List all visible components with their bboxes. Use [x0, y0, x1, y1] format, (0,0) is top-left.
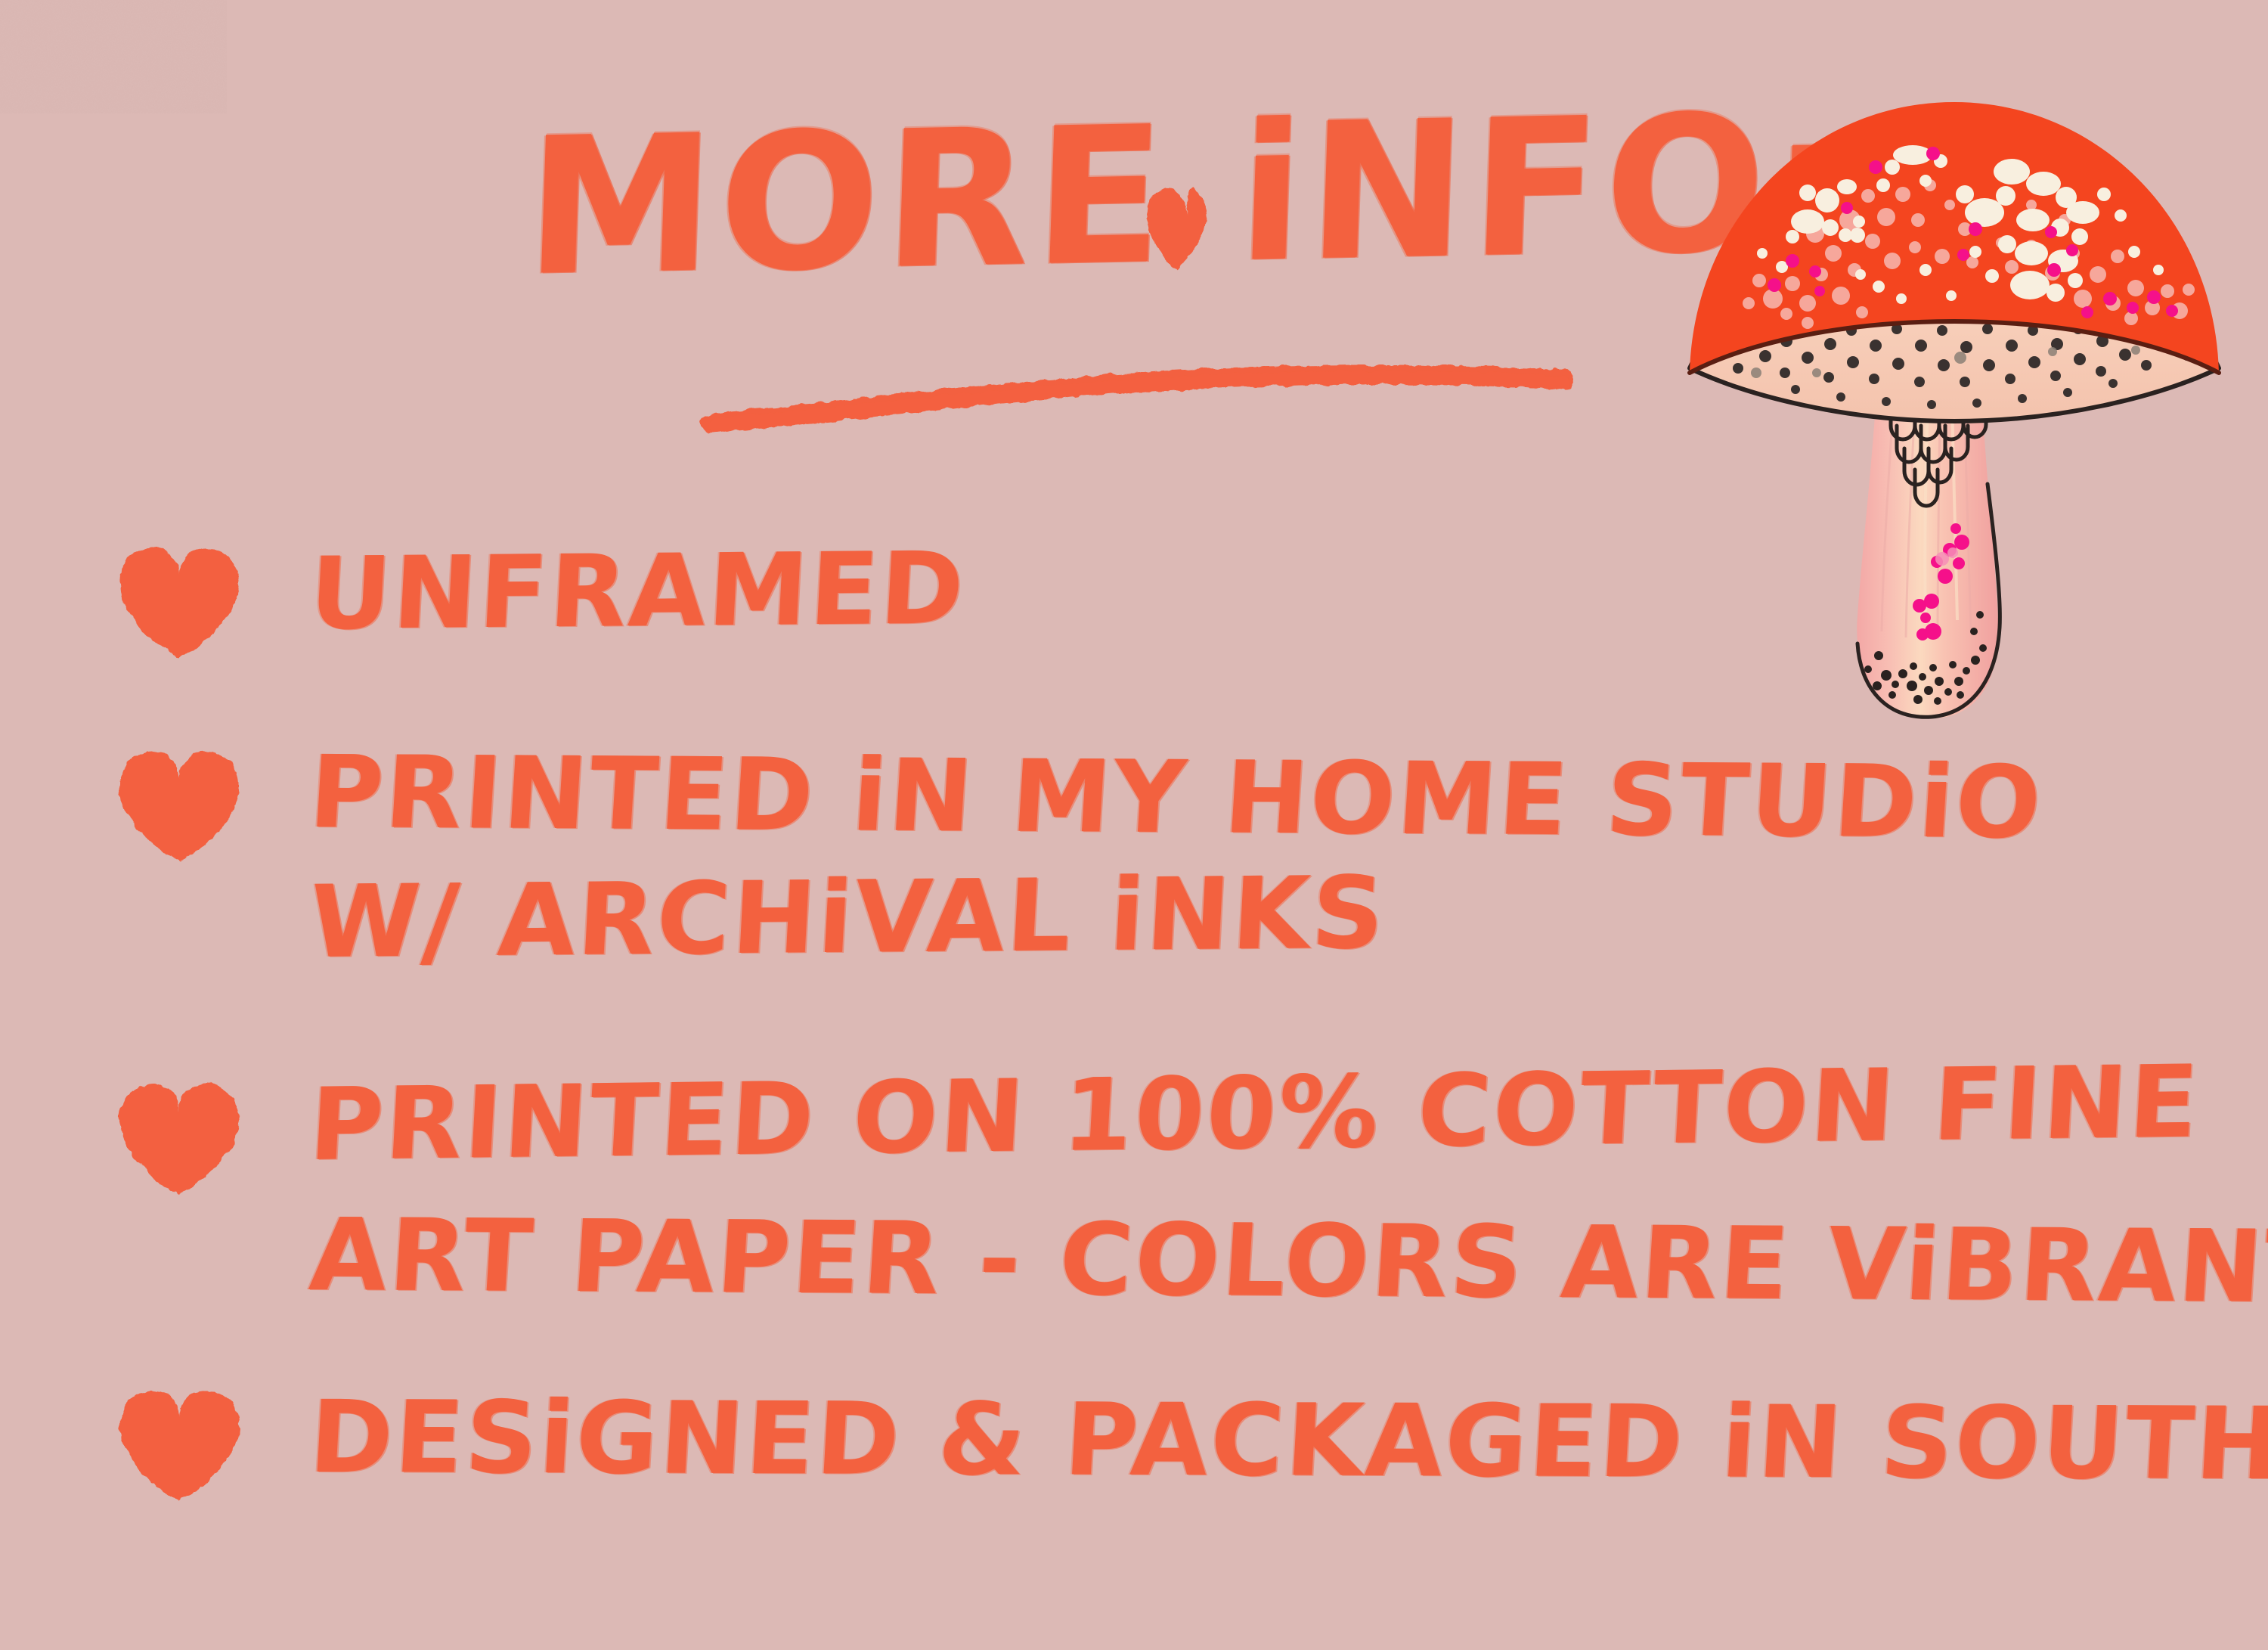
list-line: PRINTED ON 100% COTTON FINE	[307, 1052, 2249, 1175]
list-item-text: PRINTED iN MY HOME STUDiO W/ ARCHiVAL iN…	[310, 743, 2245, 972]
list-line: W/ ARCHiVAL iNKS	[308, 856, 2249, 972]
page-title-block: MORE iNFO:	[529, 113, 1663, 461]
more-info-card: MORE iNFO: UNFRAMED	[0, 0, 2268, 1650]
title-underline-stroke	[711, 374, 1565, 425]
heart-bullet-icon	[113, 744, 246, 865]
list-line: DESiGNED & PACKAGED iN SOUTH DAKOTA	[307, 1388, 2248, 1494]
page-title: MORE iNFO:	[523, 91, 1665, 302]
list-item-text: PRINTED ON 100% COTTON FINE ART PAPER - …	[310, 1075, 2245, 1305]
paper-grain-texture	[0, 0, 227, 113]
heart-bullet-icon	[113, 1077, 246, 1198]
list-item-text: DESiGNED & PACKAGED iN SOUTH DAKOTA	[310, 1388, 2245, 1487]
heart-bullet-icon	[113, 1383, 246, 1504]
list-line: PRINTED iN MY HOME STUDiO	[307, 743, 2248, 854]
amanita-mushroom-illustration	[1659, 72, 2249, 737]
list-line: ART PAPER - COLORS ARE ViBRANT!	[307, 1205, 2248, 1317]
heart-bullet-icon	[113, 540, 246, 661]
